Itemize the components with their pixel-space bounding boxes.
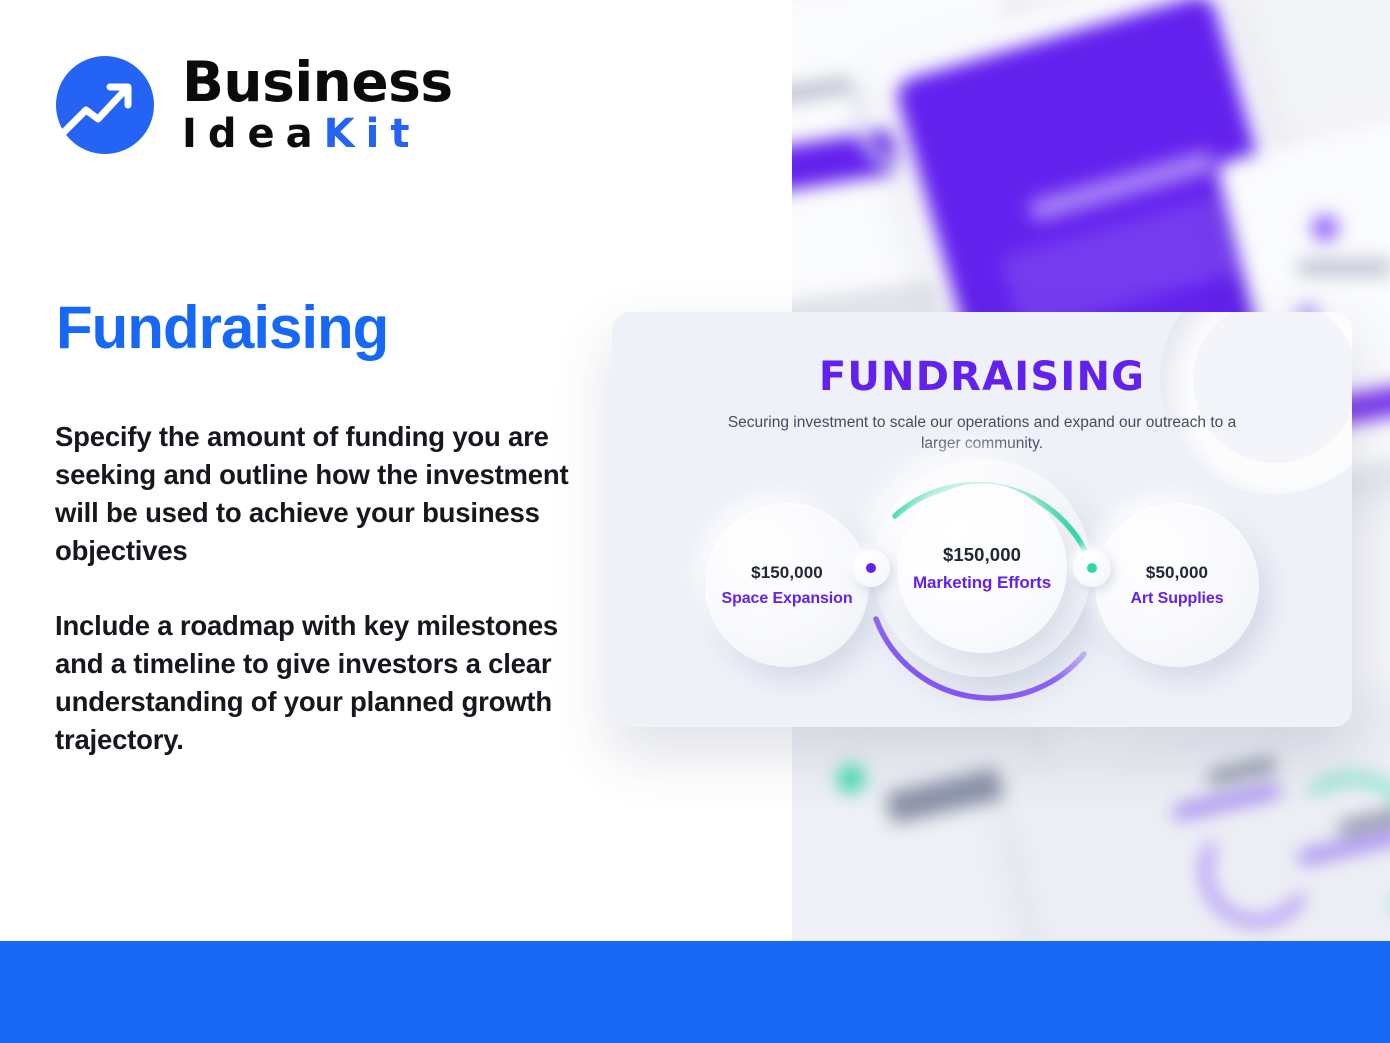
page-title: Fundraising [56, 296, 388, 359]
funding-item-marketing-efforts[interactable]: $150,000 Marketing Efforts [897, 483, 1067, 653]
bg-dot [837, 765, 865, 793]
footer-bar [0, 941, 1390, 1043]
brand-logo: Business IdeaKit [56, 55, 453, 154]
fundraising-card: FUNDRAISING Securing investment to scale… [612, 312, 1352, 727]
funding-amount: $50,000 [1146, 563, 1208, 583]
funding-label: Marketing Efforts [913, 573, 1051, 593]
funding-label: Space Expansion [722, 590, 853, 608]
brand-line-idea-kit: IdeaKit [182, 114, 453, 154]
funding-item-art-supplies[interactable]: $50,000 Art Supplies [1095, 503, 1259, 667]
brand-line-business: Business [182, 55, 453, 110]
body-paragraph-1: Specify the amount of funding you are se… [55, 418, 575, 570]
funding-amount: $150,000 [751, 563, 823, 583]
connector-node-left[interactable] [852, 549, 890, 587]
bg-text-bar [1297, 260, 1390, 275]
connector-node-right[interactable] [1073, 549, 1111, 587]
brand-wordmark: Business IdeaKit [182, 55, 453, 154]
funding-breakdown-diagram: $150,000 Space Expansion $150,000 Market… [612, 312, 1352, 727]
brand-word-kit: Kit [324, 111, 421, 157]
bg-dot [1312, 215, 1338, 241]
growth-arrow-circle-icon [56, 56, 154, 154]
brand-word-idea: Idea [182, 111, 324, 157]
funding-label: Art Supplies [1130, 590, 1223, 608]
funding-item-space-expansion[interactable]: $150,000 Space Expansion [705, 503, 869, 667]
purple-dot-icon [866, 563, 876, 573]
funding-amount: $150,000 [943, 544, 1021, 566]
body-paragraph-2: Include a roadmap with key milestones an… [55, 607, 575, 759]
green-dot-icon [1087, 563, 1097, 573]
